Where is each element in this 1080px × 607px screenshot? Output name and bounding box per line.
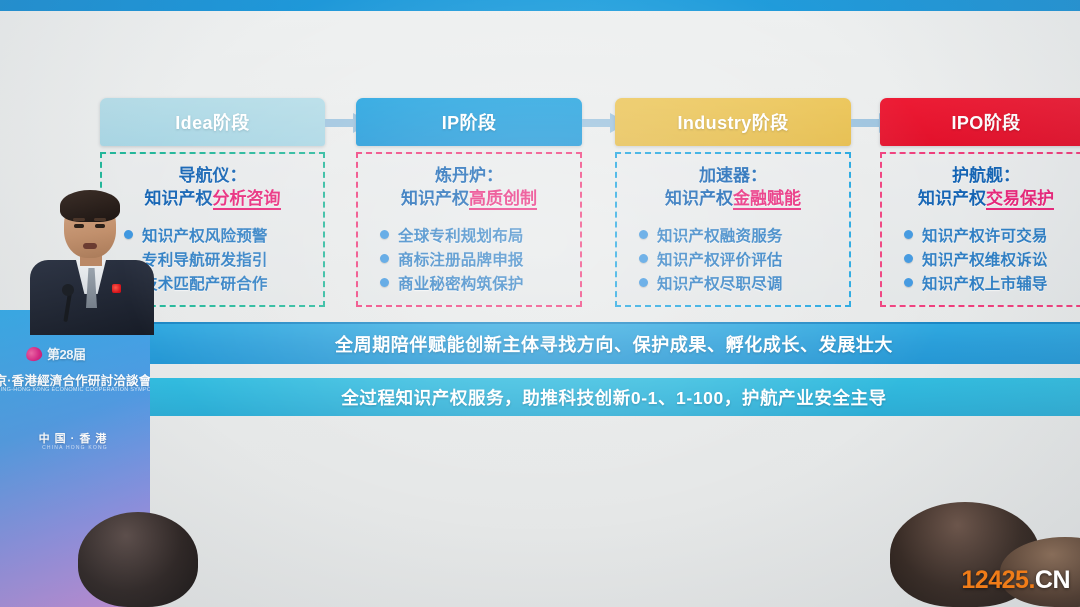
bullet-label: 知识产权维权诉讼 xyxy=(922,248,1048,270)
bullet-label: 知识产权尽职尽调 xyxy=(657,272,783,294)
summary-banners: 全周期陪伴赋能创新主体寻找方向、保护成果、孵化成长、发展壮大 全过程知识产权服务… xyxy=(148,322,1080,416)
bullet-dot-icon xyxy=(380,230,389,239)
speaker-lapel-pin xyxy=(112,284,121,293)
watermark: 12425.CN xyxy=(961,566,1070,595)
stage-header-label: IPO阶段 xyxy=(951,109,1020,135)
stage-subtitle-line1: 护航舰： xyxy=(952,166,1020,185)
stage-subtitle-industry: 加速器： 知识产权金融赋能 xyxy=(625,165,841,211)
stage-header-label: Industry阶段 xyxy=(677,109,788,135)
bullet-label: 知识产权许可交易 xyxy=(922,224,1048,246)
list-item: 知识产权许可交易 xyxy=(890,224,1080,246)
list-item: 商业秘密构筑保护 xyxy=(366,272,572,294)
bullet-label: 技术匹配产研合作 xyxy=(142,272,268,294)
bullet-dot-icon xyxy=(380,278,389,287)
bullet-dot-icon xyxy=(639,278,648,287)
stage-subtitle-prefix: 知识产权 xyxy=(665,189,733,208)
bullet-label: 知识产权上市辅导 xyxy=(922,272,1048,294)
stage-header-idea: Idea阶段 xyxy=(100,98,325,146)
stage-subtitle-highlight: 金融赋能 xyxy=(733,189,801,210)
list-item: 知识产权融资服务 xyxy=(625,224,841,246)
stage-panels: Idea阶段 导航仪： 知识产权分析咨询 知识产权风险预警 专利 xyxy=(0,98,1080,313)
event-logo: 第28届 xyxy=(26,344,85,363)
list-item: 全球专利规划布局 xyxy=(366,224,572,246)
stage-body-industry: 加速器： 知识产权金融赋能 知识产权融资服务 知识产权评价评估 xyxy=(615,152,851,307)
speaker-hair xyxy=(60,190,120,222)
stage-subtitle-prefix: 知识产权 xyxy=(918,189,986,208)
bullet-label: 知识产权风险预警 xyxy=(142,224,268,246)
bullet-dot-icon xyxy=(639,230,648,239)
speaker-brow-right xyxy=(94,218,106,221)
banner-row-2: 全过程知识产权服务，助推科技创新0-1、1-100，护航产业安全主导 xyxy=(148,378,1080,416)
stage-subtitle-highlight: 交易保护 xyxy=(986,189,1054,210)
event-edition: 第28届 xyxy=(47,344,85,363)
stage-panel-ipo[interactable]: IPO阶段 护航舰： 知识产权交易保护 知识产权许可交易 知识产 xyxy=(880,98,1080,307)
watermark-suffix: CN xyxy=(1035,566,1070,594)
bullet-label: 全球专利规划布局 xyxy=(398,224,524,246)
banner-gap xyxy=(148,364,1080,378)
bullet-dot-icon xyxy=(380,254,389,263)
speaker-eye-right xyxy=(95,224,105,228)
bullet-dot-icon xyxy=(904,254,913,263)
banner-label: 全周期陪伴赋能创新主体寻找方向、保护成果、孵化成长、发展壮大 xyxy=(335,331,893,357)
stage-bullets-ip: 全球专利规划布局 商标注册品牌申报 商业秘密构筑保护 xyxy=(366,224,572,294)
bullet-label: 知识产权融资服务 xyxy=(657,224,783,246)
list-item: 知识产权评价评估 xyxy=(625,248,841,270)
stage-bullets-ipo: 知识产权许可交易 知识产权维权诉讼 知识产权上市辅导 xyxy=(890,224,1080,294)
banner-label: 全过程知识产权服务，助推科技创新0-1、1-100，护航产业安全主导 xyxy=(341,385,886,410)
stage-header-label: Idea阶段 xyxy=(175,109,249,135)
stage-subtitle-line1: 加速器： xyxy=(699,166,767,185)
stage-subtitle-ipo: 护航舰： 知识产权交易保护 xyxy=(890,165,1080,211)
event-location-en: CHINA HONG KONG xyxy=(0,445,150,451)
list-item: 商标注册品牌申报 xyxy=(366,248,572,270)
stage-panel-ip[interactable]: IP阶段 炼丹炉： 知识产权高质创制 全球专利规划布局 商标注册 xyxy=(356,98,582,307)
stage-subtitle-line1: 炼丹炉： xyxy=(435,166,503,185)
logo-mark-icon xyxy=(25,345,44,362)
speaker-mouth xyxy=(83,243,97,249)
bullet-dot-icon xyxy=(904,278,913,287)
banner-row-1: 全周期陪伴赋能创新主体寻找方向、保护成果、孵化成长、发展壮大 xyxy=(148,322,1080,364)
stage-subtitle-highlight: 高质创制 xyxy=(469,189,537,210)
list-item: 知识产权尽职尽调 xyxy=(625,272,841,294)
stage-header-label: IP阶段 xyxy=(442,109,497,135)
stage-body-ipo: 护航舰： 知识产权交易保护 知识产权许可交易 知识产权维权诉讼 xyxy=(880,152,1080,307)
stage-header-ipo: IPO阶段 xyxy=(880,98,1080,146)
event-location: 中国·香港 xyxy=(0,430,150,446)
stage-body-ip: 炼丹炉： 知识产权高质创制 全球专利规划布局 商标注册品牌申报 xyxy=(356,152,582,307)
event-title-en: BEIJING-HONG KONG ECONOMIC COOPERATION S… xyxy=(0,387,150,393)
stage-bullets-industry: 知识产权融资服务 知识产权评价评估 知识产权尽职尽调 xyxy=(625,224,841,294)
stage-subtitle-line1: 导航仪： xyxy=(179,166,247,185)
stage-subtitle-highlight: 分析咨询 xyxy=(213,189,281,210)
list-item: 知识产权维权诉讼 xyxy=(890,248,1080,270)
stage-header-ip: IP阶段 xyxy=(356,98,582,146)
speaker-eye-left xyxy=(74,224,84,228)
bullet-dot-icon xyxy=(904,230,913,239)
microphone-icon xyxy=(62,284,74,296)
bullet-dot-icon xyxy=(639,254,648,263)
watermark-number: 12425 xyxy=(961,566,1028,594)
bullet-label: 商业秘密构筑保护 xyxy=(398,272,524,294)
list-item: 知识产权上市辅导 xyxy=(890,272,1080,294)
speaker-figure xyxy=(28,188,156,333)
bullet-label: 商标注册品牌申报 xyxy=(398,248,524,270)
bullet-label: 专利导航研发指引 xyxy=(142,248,268,270)
stage-header-industry: Industry阶段 xyxy=(615,98,851,146)
stage-subtitle-ip: 炼丹炉： 知识产权高质创制 xyxy=(366,165,572,211)
bullet-label: 知识产权评价评估 xyxy=(657,248,783,270)
stage-photo: Idea阶段 导航仪： 知识产权分析咨询 知识产权风险预警 专利 xyxy=(0,0,1080,607)
audience-silhouette xyxy=(58,512,238,607)
stage-panel-industry[interactable]: Industry阶段 加速器： 知识产权金融赋能 知识产权融资服务 xyxy=(615,98,851,307)
screen-top-strip xyxy=(0,0,1080,11)
stage-subtitle-prefix: 知识产权 xyxy=(401,189,469,208)
speaker-brow-left xyxy=(73,218,85,221)
